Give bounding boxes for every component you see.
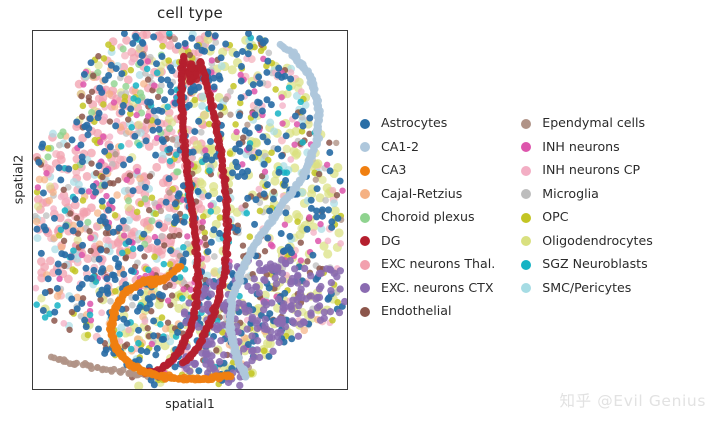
legend-color-swatch-icon bbox=[521, 260, 531, 270]
legend-item-label: SMC/Pericytes bbox=[542, 282, 631, 295]
legend-item-label: INH neurons bbox=[542, 141, 619, 154]
legend-item[interactable]: SMC/Pericytes bbox=[521, 277, 653, 301]
legend-item[interactable]: Oligodendrocytes bbox=[521, 230, 653, 254]
legend-item-label: CA1-2 bbox=[381, 141, 419, 154]
legend-color-swatch-icon bbox=[360, 260, 370, 270]
legend-color-swatch-icon bbox=[360, 236, 370, 246]
plot-area bbox=[32, 30, 348, 390]
legend-color-swatch-icon bbox=[360, 166, 370, 176]
legend-color-swatch-icon bbox=[360, 119, 370, 129]
legend-item[interactable]: Microglia bbox=[521, 183, 653, 207]
legend-item[interactable]: EXC. neurons CTX bbox=[360, 277, 495, 301]
legend-item[interactable]: INH neurons CP bbox=[521, 159, 653, 183]
legend-item-label: EXC. neurons CTX bbox=[381, 282, 493, 295]
chart-title: cell type bbox=[32, 4, 348, 22]
legend-item-label: Oligodendrocytes bbox=[542, 235, 653, 248]
y-axis-label: spatial2 bbox=[11, 120, 26, 240]
legend-item[interactable]: DG bbox=[360, 230, 495, 254]
legend-column-left: AstrocytesCA1-2CA3Cajal-RetziusChoroid p… bbox=[360, 112, 495, 324]
legend-item-label: OPC bbox=[542, 211, 568, 224]
x-axis-label: spatial1 bbox=[32, 396, 348, 411]
legend-color-swatch-icon bbox=[521, 119, 531, 129]
legend-color-swatch-icon bbox=[521, 213, 531, 223]
legend-item[interactable]: OPC bbox=[521, 206, 653, 230]
legend-item-label: DG bbox=[381, 235, 400, 248]
legend-color-swatch-icon bbox=[521, 189, 531, 199]
legend-item-label: EXC neurons Thal. bbox=[381, 258, 495, 271]
legend-item[interactable]: CA1-2 bbox=[360, 136, 495, 160]
legend-column-right: Ependymal cellsINH neuronsINH neurons CP… bbox=[521, 112, 653, 324]
legend-item-label: Ependymal cells bbox=[542, 117, 645, 130]
legend-item[interactable]: Cajal-Retzius bbox=[360, 183, 495, 207]
legend-item[interactable]: Choroid plexus bbox=[360, 206, 495, 230]
scatter-points-layer bbox=[33, 31, 347, 389]
legend-item[interactable]: Endothelial bbox=[360, 300, 495, 324]
legend-item-label: Astrocytes bbox=[381, 117, 447, 130]
legend-item-label: CA3 bbox=[381, 164, 406, 177]
legend-item-label: Choroid plexus bbox=[381, 211, 475, 224]
legend-color-swatch-icon bbox=[360, 142, 370, 152]
legend-color-swatch-icon bbox=[360, 189, 370, 199]
legend-item-label: INH neurons CP bbox=[542, 164, 640, 177]
figure-root: cell type spatial2 spatial1 AstrocytesCA… bbox=[0, 0, 720, 425]
legend-item-label: Endothelial bbox=[381, 305, 452, 318]
legend-color-swatch-icon bbox=[360, 213, 370, 223]
legend-color-swatch-icon bbox=[360, 307, 370, 317]
legend-color-swatch-icon bbox=[521, 283, 531, 293]
watermark: 知乎 @Evil Genius bbox=[559, 389, 706, 411]
legend-item-label: Cajal-Retzius bbox=[381, 188, 462, 201]
legend-color-swatch-icon bbox=[360, 283, 370, 293]
legend-color-swatch-icon bbox=[521, 166, 531, 176]
legend: AstrocytesCA1-2CA3Cajal-RetziusChoroid p… bbox=[360, 112, 653, 324]
legend-item[interactable]: EXC neurons Thal. bbox=[360, 253, 495, 277]
legend-item-label: SGZ Neuroblasts bbox=[542, 258, 647, 271]
legend-color-swatch-icon bbox=[521, 236, 531, 246]
legend-item-label: Microglia bbox=[542, 188, 599, 201]
legend-item[interactable]: SGZ Neuroblasts bbox=[521, 253, 653, 277]
legend-color-swatch-icon bbox=[521, 142, 531, 152]
legend-item[interactable]: Ependymal cells bbox=[521, 112, 653, 136]
legend-item[interactable]: CA3 bbox=[360, 159, 495, 183]
legend-item[interactable]: INH neurons bbox=[521, 136, 653, 160]
legend-item[interactable]: Astrocytes bbox=[360, 112, 495, 136]
